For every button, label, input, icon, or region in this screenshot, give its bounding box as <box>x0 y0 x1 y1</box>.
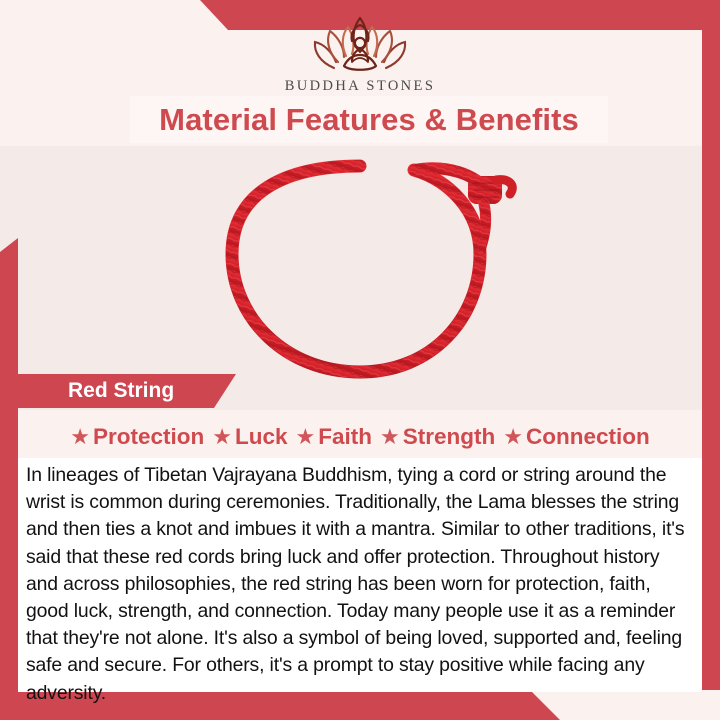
product-name-ribbon: Red String <box>18 374 236 408</box>
benefit-label: Luck <box>235 424 288 450</box>
benefit-item-connection: ★ Connection <box>499 424 653 450</box>
frame-accent-right <box>702 0 720 690</box>
product-name-label: Red String <box>68 379 174 403</box>
benefit-label: Strength <box>403 424 496 450</box>
lotus-meditating-figure-icon <box>300 14 420 76</box>
product-image <box>18 150 702 398</box>
description-text: In lineages of Tibetan Vajrayana Buddhis… <box>26 462 694 707</box>
description-panel: In lineages of Tibetan Vajrayana Buddhis… <box>18 458 702 692</box>
brand-name: BUDDHA STONES <box>0 78 720 95</box>
benefit-item-strength: ★ Strength <box>376 424 499 450</box>
star-icon: ★ <box>70 426 90 448</box>
benefit-item-faith: ★ Faith <box>292 424 376 450</box>
benefit-label: Connection <box>526 424 650 450</box>
benefit-item-protection: ★ Protection <box>66 424 208 450</box>
star-icon: ★ <box>212 426 232 448</box>
title-banner: Material Features & Benefits <box>130 96 608 143</box>
brand-logo: BUDDHA STONES <box>0 14 720 95</box>
star-icon: ★ <box>503 426 523 448</box>
page-title: Material Features & Benefits <box>159 102 579 138</box>
benefits-list: ★ Protection ★ Luck ★ Faith ★ Strength ★… <box>18 418 702 456</box>
star-icon: ★ <box>296 426 316 448</box>
infographic-card: BUDDHA STONES Material Features & Benefi… <box>0 0 720 720</box>
benefit-label: Faith <box>318 424 372 450</box>
benefit-item-luck: ★ Luck <box>208 424 291 450</box>
star-icon: ★ <box>380 426 400 448</box>
benefit-label: Protection <box>93 424 204 450</box>
frame-accent-left <box>0 238 18 690</box>
red-braided-string-bracelet-illustration <box>18 150 702 398</box>
